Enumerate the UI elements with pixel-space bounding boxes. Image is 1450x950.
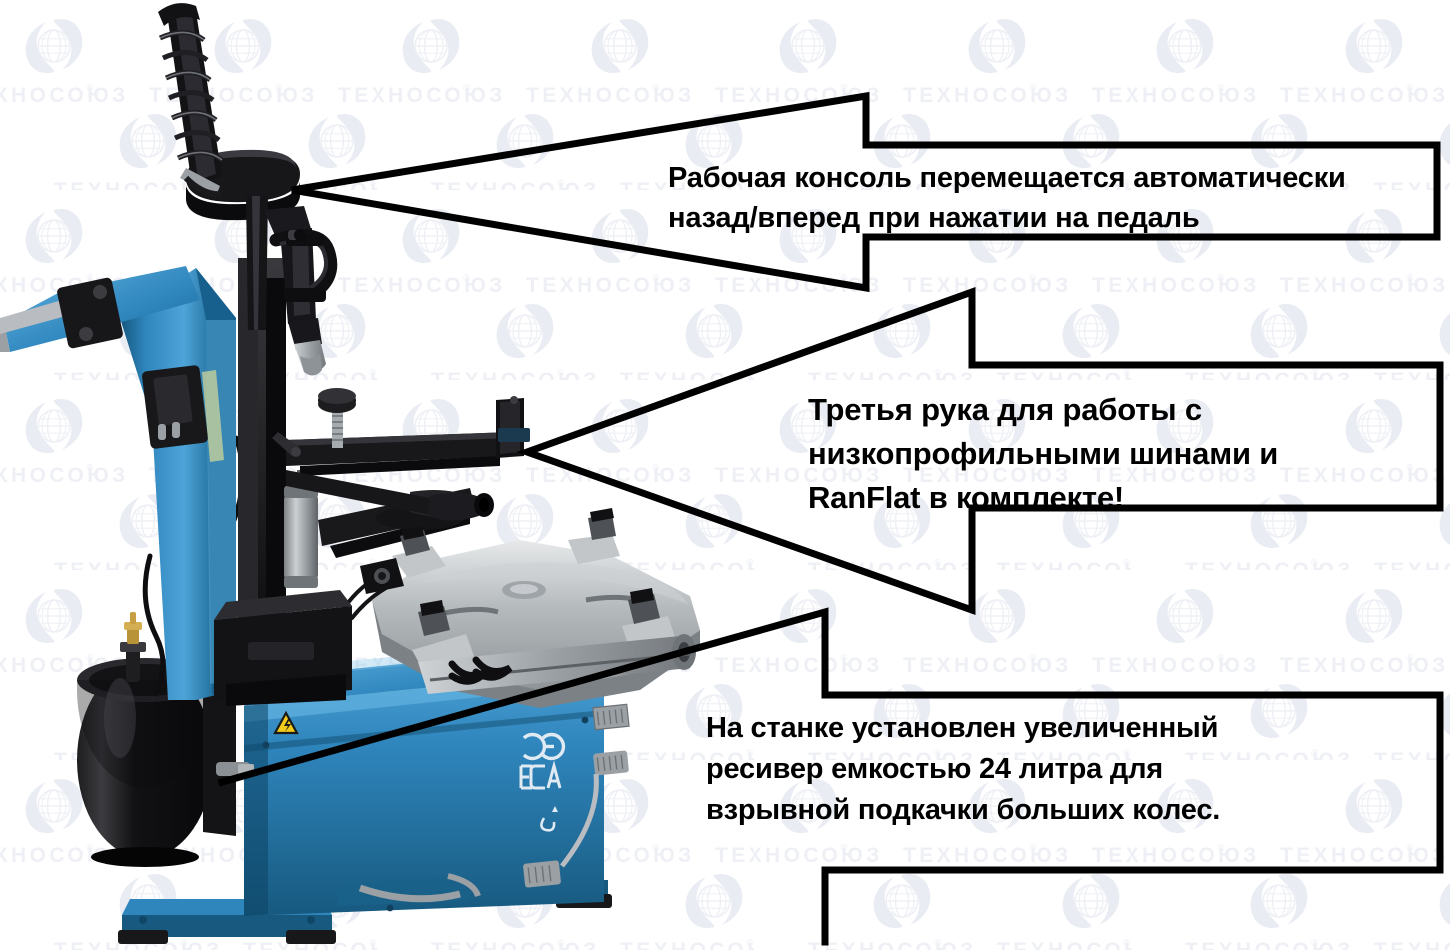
callout-third-arm-line-2: низкопрофильными шинами и (808, 432, 1278, 476)
callout-third-arm-text: Третья рука для работы с низкопрофильным… (808, 388, 1278, 520)
callout-receiver-text: На станке установлен увеличенный ресивер… (706, 708, 1220, 831)
callout-console-text: Рабочая консоль перемещается автоматичес… (668, 158, 1346, 238)
image-canvas: ТЕХНОСОЮЗ ® (0, 0, 1450, 950)
callout-console-line-1: Рабочая консоль перемещается автоматичес… (668, 158, 1346, 198)
callout-console-line-2: назад/вперед при нажатии на педаль (668, 198, 1346, 238)
callout-receiver-line-2: ресивер емкостью 24 литра для (706, 749, 1220, 790)
callout-third-arm-line-3: RanFlat в комплекте! (808, 476, 1278, 520)
callout-receiver-line-3: взрывной подкачки больших колес. (706, 790, 1220, 831)
callout-receiver-line-1: На станке установлен увеличенный (706, 708, 1220, 749)
callout-third-arm-line-1: Третья рука для работы с (808, 388, 1278, 432)
